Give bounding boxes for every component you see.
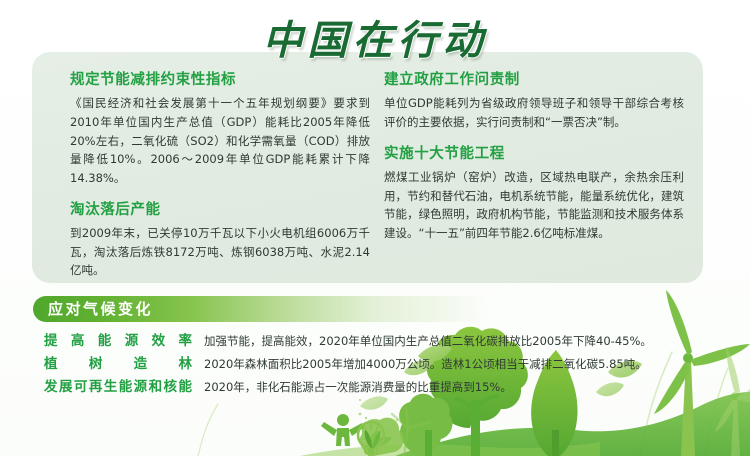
climate-rows: 提高能源效率 加强节能，提高能效，2020年单位国内生产总值二氧化碳排放比200…	[0, 330, 750, 399]
block-body: 《国民经济和社会发展第十一个五年规划纲要》要求到2010年单位国内生产总值（GD…	[70, 94, 370, 187]
page-title: 中国在行动	[0, 8, 750, 66]
climate-row: 植树造林 2020年森林面积比2005年增加4000万公顷。造林1公顷相当于减排…	[0, 353, 750, 376]
block-binding-targets: 规定节能减排约束性指标 《国民经济和社会发展第十一个五年规划纲要》要求到2010…	[70, 72, 370, 188]
left-column: 规定节能减排约束性指标 《国民经济和社会发展第十一个五年规划纲要》要求到2010…	[70, 72, 370, 294]
block-heading: 规定节能减排约束性指标	[70, 72, 370, 89]
block-body: 到2009年末，已关停10万千瓦以下小火电机组6006万千瓦，淘汰落后炼铁817…	[70, 224, 370, 280]
hill-ground-back	[300, 442, 600, 456]
block-heading: 淘汰落后产能	[70, 202, 370, 219]
climate-row-text: 2020年，非化石能源占一次能源消费量的比重提高到15%。	[204, 376, 512, 399]
block-accountability-system: 建立政府工作问责制 单位GDP能耗列为省级政府领导班子和领导干部综合考核评价的主…	[384, 72, 684, 132]
block-heading: 实施十大节能工程	[384, 146, 684, 163]
right-column: 建立政府工作问责制 单位GDP能耗列为省级政府领导班子和领导干部综合考核评价的主…	[384, 72, 684, 257]
block-body: 单位GDP能耗列为省级政府领导班子和领导干部综合考核评价的主要依据，实行问责制和…	[384, 94, 684, 131]
climate-row-label: 发展可再生能源和核能	[44, 376, 192, 399]
block-ten-energy-projects: 实施十大节能工程 燃煤工业锅炉（窑炉）改造，区域热电联产，余热余压利用，节约和替…	[384, 146, 684, 243]
climate-row-label: 植树造林	[44, 353, 192, 376]
climate-heading: 应对气候变化	[48, 299, 153, 319]
climate-section: 应对气候变化 提高能源效率 加强节能，提高能效，2020年单位国内生产总值二氧化…	[0, 296, 750, 426]
lightbulb-leaf-icon	[352, 418, 390, 456]
climate-row-label: 提高能源效率	[44, 330, 192, 353]
block-body: 燃煤工业锅炉（窑炉）改造，区域热电联产，余热余压利用，节约和替代石油，电机系统节…	[384, 168, 684, 243]
climate-row-text: 加强节能，提高能效，2020年单位国内生产总值二氧化碳排放比2005年下降40-…	[204, 330, 652, 353]
climate-row-text: 2020年森林面积比2005年增加4000万公顷。造林1公顷相当于减排二氧化碳5…	[204, 353, 647, 376]
poster-page: 中国在行动 规定节能减排约束性指标 《国民经济和社会发展第十一个五年规划纲要》要…	[0, 0, 750, 456]
block-heading: 建立政府工作问责制	[384, 72, 684, 89]
main-content-panel: 规定节能减排约束性指标 《国民经济和社会发展第十一个五年规划纲要》要求到2010…	[32, 52, 703, 283]
block-phase-out-capacity: 淘汰落后产能 到2009年末，已关停10万千瓦以下小火电机组6006万千瓦，淘汰…	[70, 202, 370, 280]
climate-row: 发展可再生能源和核能 2020年，非化石能源占一次能源消费量的比重提高到15%。	[0, 376, 750, 399]
climate-row: 提高能源效率 加强节能，提高能效，2020年单位国内生产总值二氧化碳排放比200…	[0, 330, 750, 353]
